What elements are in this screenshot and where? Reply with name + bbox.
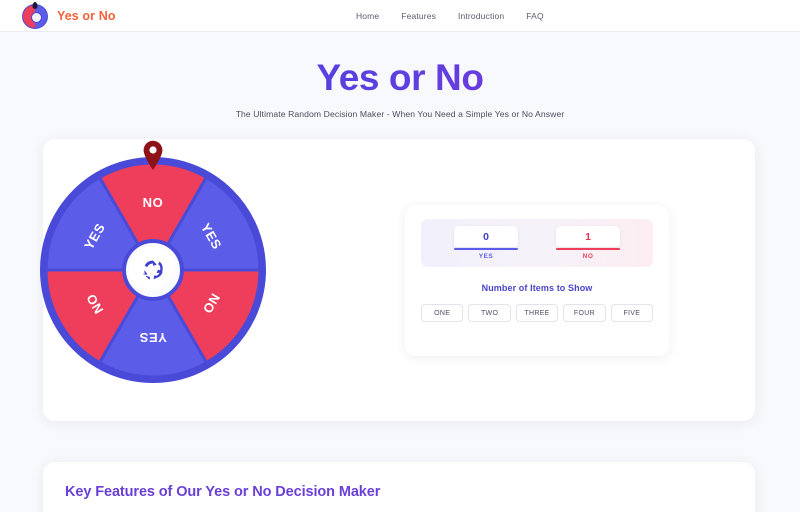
wheel-spin-hub-button[interactable] — [122, 239, 184, 301]
score-yes-value: 0 — [454, 226, 518, 247]
top-navbar: Yes or No Home Features Introduction FAQ — [0, 0, 800, 32]
score-yes-label: YES — [454, 253, 518, 260]
item-count-button-four[interactable]: FOUR — [563, 304, 605, 322]
item-count-button-two[interactable]: TWO — [468, 304, 510, 322]
nav-links: Home Features Introduction FAQ — [356, 0, 544, 31]
hero-section: Yes or No The Ultimate Random Decision M… — [0, 32, 800, 119]
items-count-title: Number of Items to Show — [421, 283, 653, 293]
score-no: 1 NO — [556, 226, 620, 260]
page-title: Yes or No — [0, 58, 800, 99]
nav-link-home[interactable]: Home — [356, 11, 379, 21]
features-title: Key Features of Our Yes or No Decision M… — [65, 484, 733, 500]
logo-pin-icon — [33, 2, 38, 9]
controls-panel: 0 YES 1 NO Number of Items to Show ONE T… — [405, 205, 669, 356]
nav-link-faq[interactable]: FAQ — [526, 11, 543, 21]
map-pin-pointer-icon — [142, 140, 164, 170]
item-count-button-one[interactable]: ONE — [421, 304, 463, 322]
spin-wheel[interactable]: NOYESNOYESNOYES — [40, 157, 266, 383]
brand-name: Yes or No — [57, 9, 116, 23]
score-panel: 0 YES 1 NO — [421, 219, 653, 267]
nav-link-features[interactable]: Features — [401, 11, 436, 21]
features-card: Key Features of Our Yes or No Decision M… — [43, 462, 755, 512]
wheel-logo-icon — [22, 3, 48, 29]
nav-link-introduction[interactable]: Introduction — [458, 11, 504, 21]
wheel-area: NOYESNOYESNOYES — [43, 139, 343, 421]
score-no-value: 1 — [556, 226, 620, 247]
wheel-segment-label: NO — [143, 195, 164, 210]
score-no-label: NO — [556, 253, 620, 260]
item-count-button-five[interactable]: FIVE — [611, 304, 653, 322]
recycle-refresh-icon — [140, 257, 166, 283]
score-yes: 0 YES — [454, 226, 518, 260]
wheel-segment-label: YES — [139, 330, 167, 345]
item-count-button-three[interactable]: THREE — [516, 304, 558, 322]
brand-logo-link[interactable]: Yes or No — [22, 3, 116, 29]
score-yes-underline — [454, 248, 518, 250]
page-subtitle: The Ultimate Random Decision Maker - Whe… — [0, 109, 800, 119]
score-no-underline — [556, 248, 620, 250]
items-count-buttons: ONE TWO THREE FOUR FIVE — [421, 304, 653, 322]
